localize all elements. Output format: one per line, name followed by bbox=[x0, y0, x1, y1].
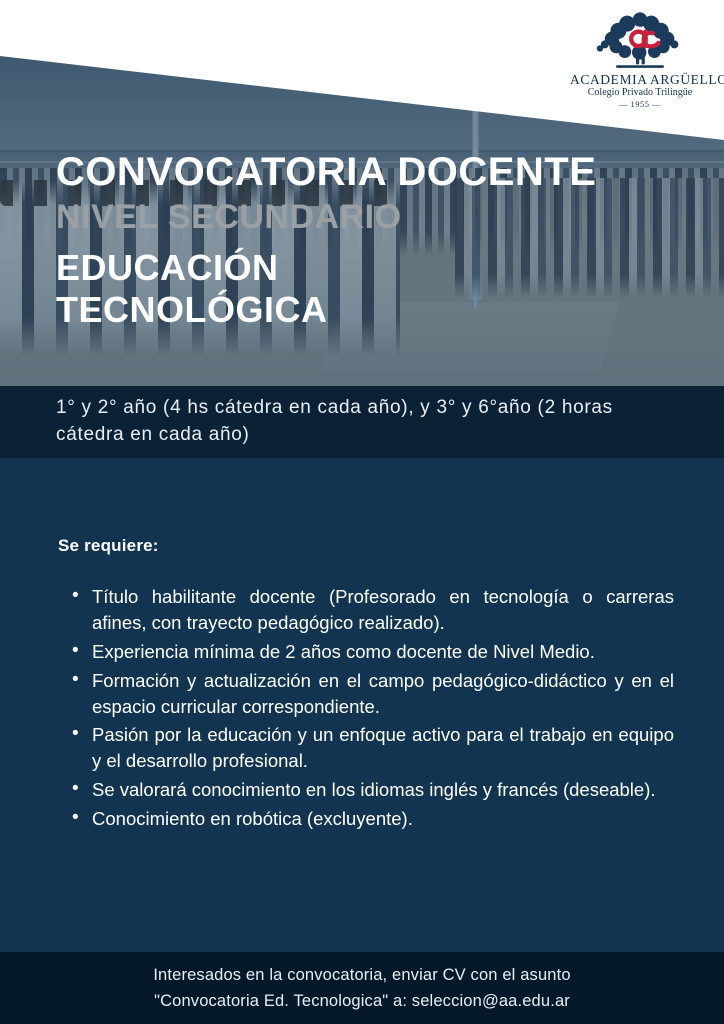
headline-line-educacion: EDUCACIÓN bbox=[56, 250, 686, 286]
headline-line-nivel-secundario: NIVEL SECUNDARIO bbox=[56, 200, 686, 234]
list-item: Formación y actualización en el campo pe… bbox=[58, 668, 674, 720]
list-item: Conocimiento en robótica (excluyente). bbox=[58, 806, 674, 832]
school-logo: ACADEMIA ARGÜELLO Colegio Privado Trilin… bbox=[570, 12, 710, 108]
list-item: Título habilitante docente (Profesorado … bbox=[58, 584, 674, 636]
headline-line-tecnologica: TECNOLÓGICA bbox=[56, 292, 686, 328]
list-item: Pasión por la educación y un enfoque act… bbox=[58, 722, 674, 774]
poster-root: ACADEMIA ARGÜELLO Colegio Privado Trilin… bbox=[0, 0, 724, 1024]
hours-text: 1° y 2° año (4 hs cátedra en cada año), … bbox=[0, 395, 724, 449]
requirements-title: Se requiere: bbox=[58, 536, 159, 556]
requirements-list: Título habilitante docente (Profesorado … bbox=[58, 584, 674, 835]
footer-line-1: Interesados en la convocatoria, enviar C… bbox=[153, 962, 570, 988]
hours-band: 1° y 2° año (4 hs cátedra en cada año), … bbox=[0, 386, 724, 458]
list-item: Se valorará conocimiento en los idiomas … bbox=[58, 777, 674, 803]
headline-line-convocatoria-docente: CONVOCATORIA DOCENTE bbox=[56, 152, 686, 192]
headline-block: CONVOCATORIA DOCENTE NIVEL SECUNDARIO ED… bbox=[56, 152, 686, 328]
logo-subtitle: Colegio Privado Trilingüe bbox=[570, 87, 710, 100]
footer-line-2: "Convocatoria Ed. Tecnologica" a: selecc… bbox=[154, 988, 570, 1014]
oak-tree-with-aa-monogram-icon bbox=[592, 12, 688, 72]
list-item: Experiencia mínima de 2 años como docent… bbox=[58, 639, 674, 665]
logo-academy-name: ACADEMIA ARGÜELLO bbox=[570, 73, 710, 87]
requirements-section: Se requiere: Título habilitante docente … bbox=[0, 458, 724, 952]
logo-founding-year: — 1955 — bbox=[570, 99, 710, 110]
footer-contact-band: Interesados en la convocatoria, enviar C… bbox=[0, 952, 724, 1024]
